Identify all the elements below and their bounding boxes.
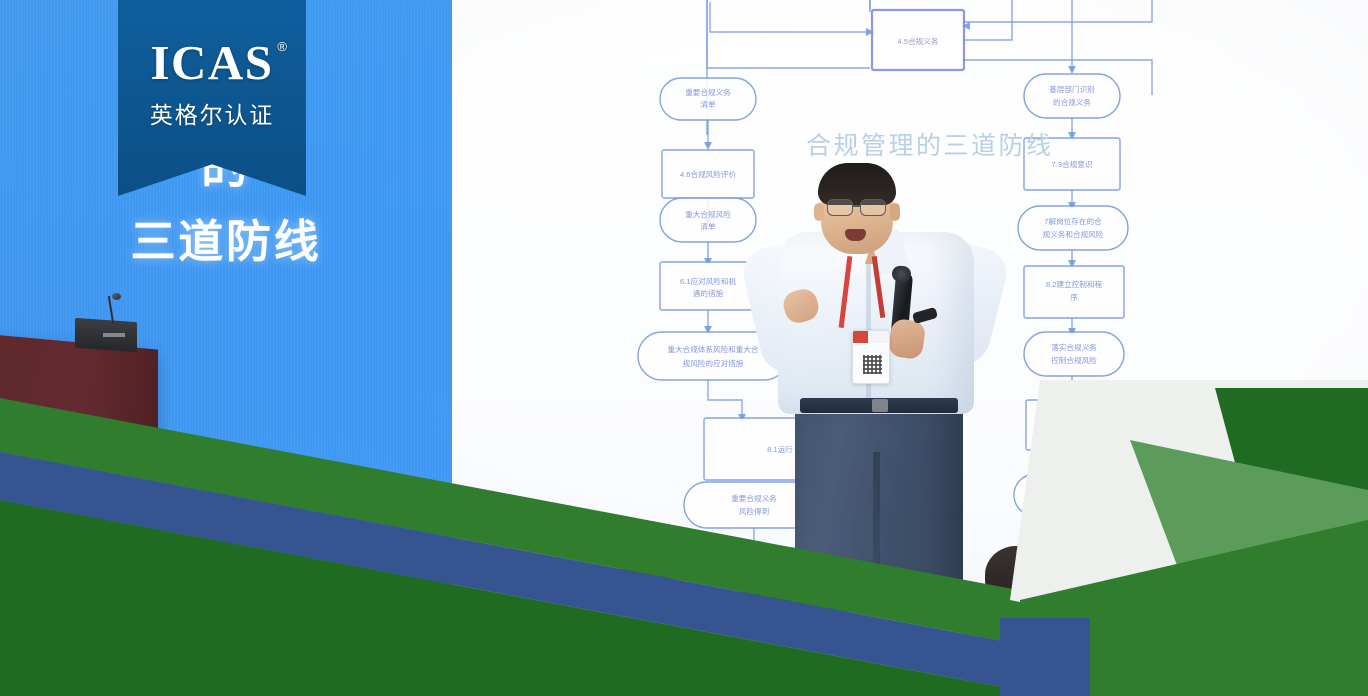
speaker-ear-left: [814, 203, 824, 221]
audience-shoulders: [962, 600, 1080, 696]
registered-trademark-icon: ®: [277, 40, 288, 53]
podium-nameplate: [103, 333, 125, 337]
wall-title-line2: 三道防线: [0, 205, 452, 270]
photo-stage: 4.5合规义务 重要合规义务 清单 4.6合规风险评价 重大合规风险 清单 6.…: [0, 0, 1368, 696]
icas-wordmark-text: ICAS: [151, 35, 274, 90]
speaker-leg-seam: [873, 452, 880, 612]
speaker-belt-buckle: [872, 399, 888, 412]
eyeglasses-bridge-icon: [853, 205, 860, 207]
eyeglasses-right-lens-icon: [860, 199, 886, 216]
speaker-id-badge: [852, 330, 890, 384]
speaker-ear-right: [890, 203, 900, 221]
eyeglasses-left-lens-icon: [827, 199, 853, 216]
slide-heading: 合规管理的三道防线: [806, 126, 1054, 162]
qr-code-icon: [863, 355, 882, 374]
badge-header-band: [853, 331, 889, 343]
speaker-mouth: [845, 229, 866, 241]
microphone-head-icon: [112, 293, 121, 300]
audience-head: [985, 546, 1047, 604]
audience-head: [620, 536, 678, 590]
podium: [0, 334, 158, 459]
icas-wordmark: ICAS®: [151, 38, 274, 87]
icas-chinese-name: 英格尔认证: [150, 96, 274, 130]
audience-head: [742, 560, 796, 612]
